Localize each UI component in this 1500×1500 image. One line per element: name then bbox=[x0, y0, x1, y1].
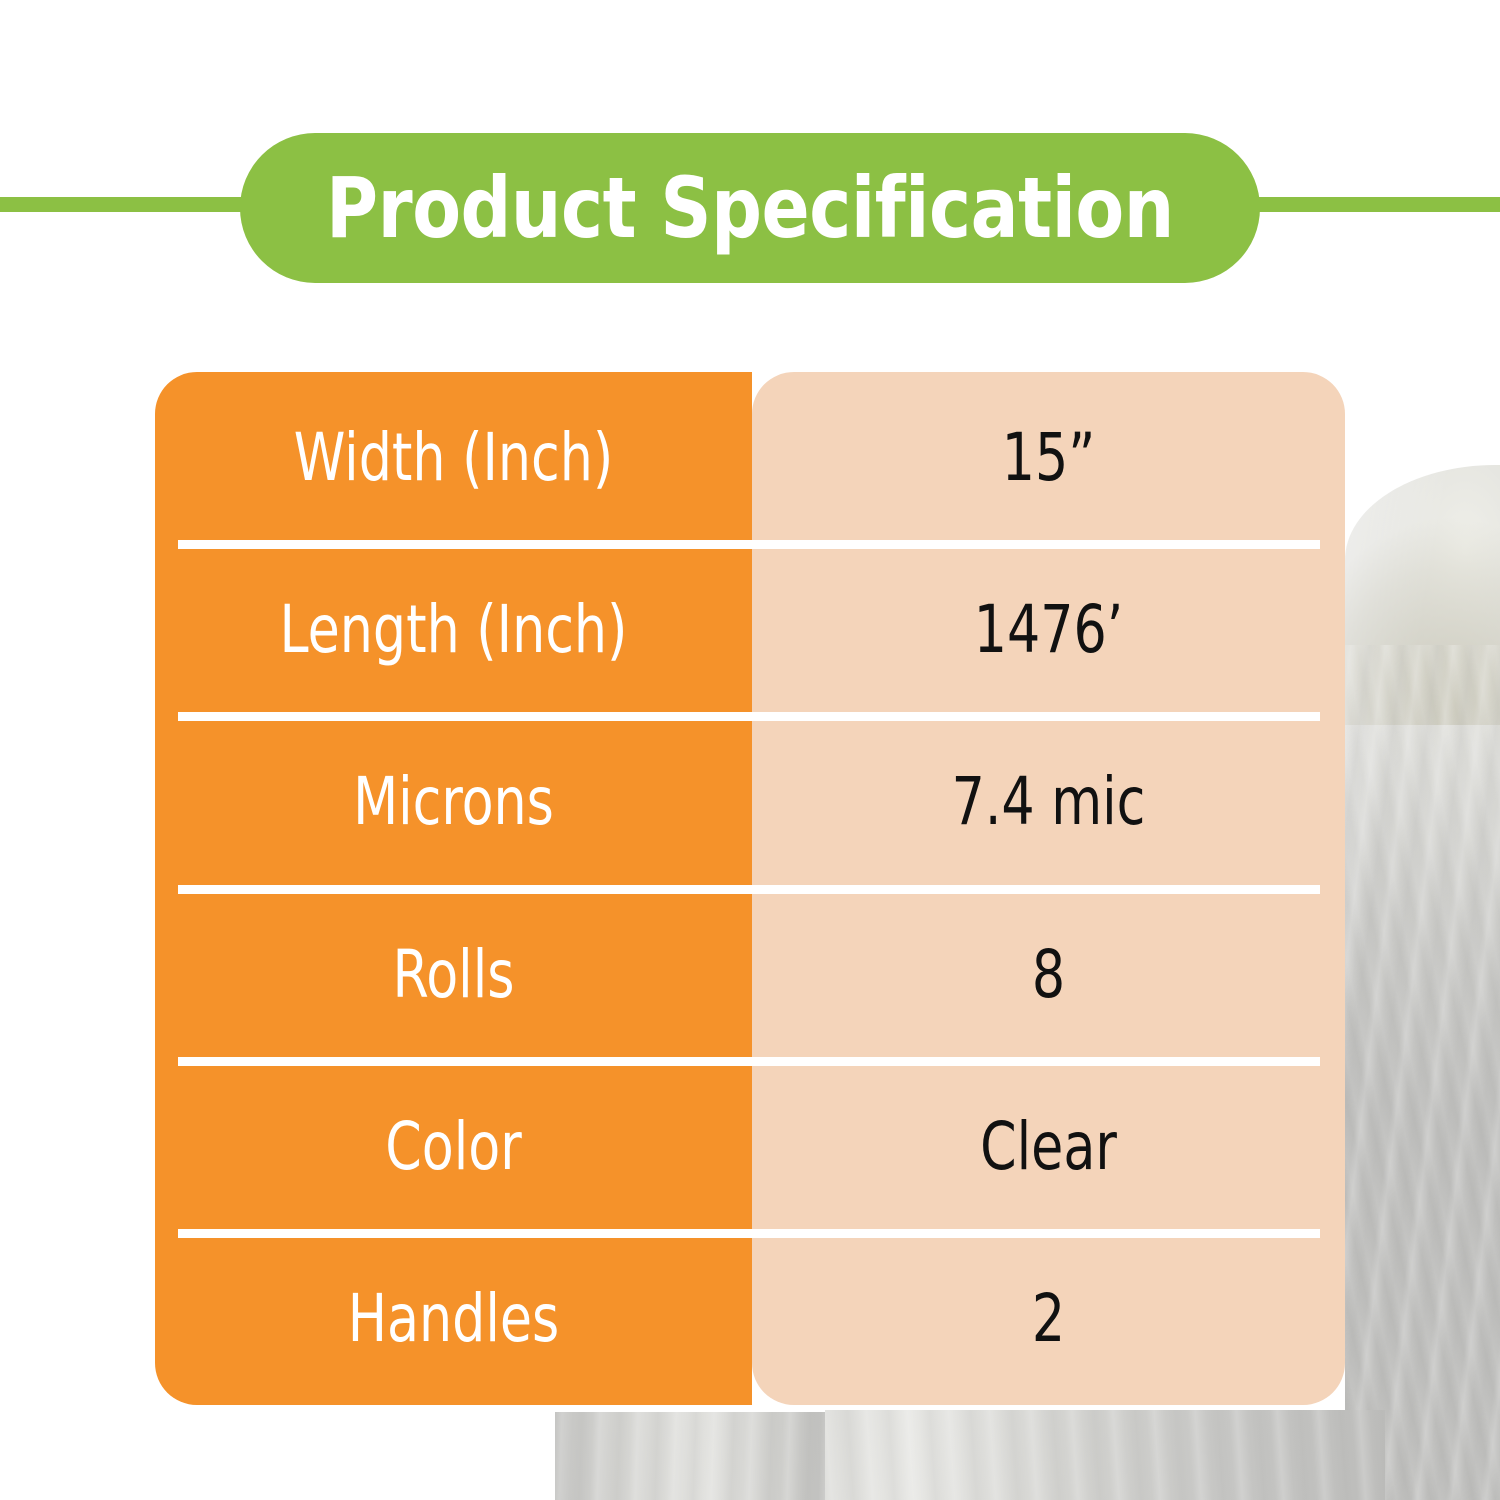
spec-value-color: Clear bbox=[788, 1114, 1310, 1180]
spec-label-handles: Handles bbox=[191, 1286, 716, 1352]
infographic-canvas: Product Specification Width (Inch) 15” L… bbox=[0, 0, 1500, 1500]
spec-table: Width (Inch) 15” Length (Inch) 1476’ Mic… bbox=[155, 372, 1345, 1405]
spec-label-color: Color bbox=[191, 1114, 716, 1180]
spec-label-length: Length (Inch) bbox=[191, 597, 716, 663]
table-row: Width (Inch) 15” bbox=[155, 372, 1345, 544]
stretch-film-roll-bottom-right bbox=[825, 1410, 1385, 1500]
spec-label-rolls: Rolls bbox=[191, 942, 716, 1008]
stretch-film-roll-bottom-left bbox=[555, 1412, 825, 1500]
table-row: Rolls 8 bbox=[155, 889, 1345, 1061]
spec-value-width: 15” bbox=[788, 425, 1310, 491]
table-row: Microns 7.4 mic bbox=[155, 716, 1345, 888]
table-row: Length (Inch) 1476’ bbox=[155, 544, 1345, 716]
spec-label-microns: Microns bbox=[191, 769, 716, 835]
spec-row-list: Width (Inch) 15” Length (Inch) 1476’ Mic… bbox=[155, 372, 1345, 1405]
table-row: Handles 2 bbox=[155, 1233, 1345, 1405]
table-row: Color Clear bbox=[155, 1061, 1345, 1233]
spec-value-microns: 7.4 mic bbox=[788, 769, 1310, 835]
stretch-film-roll-right bbox=[1345, 465, 1500, 1500]
spec-value-rolls: 8 bbox=[788, 942, 1310, 1008]
spec-value-length: 1476’ bbox=[788, 597, 1310, 663]
spec-label-width: Width (Inch) bbox=[191, 425, 716, 491]
spec-value-handles: 2 bbox=[788, 1286, 1310, 1352]
page-title: Product Specification bbox=[326, 166, 1174, 250]
title-banner: Product Specification bbox=[240, 133, 1260, 283]
